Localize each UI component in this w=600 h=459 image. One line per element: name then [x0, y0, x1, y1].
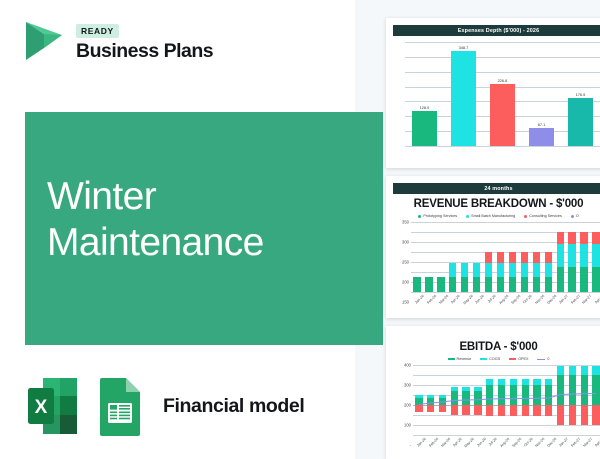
svg-text:X: X	[35, 397, 48, 418]
bar-slot: 348.7	[444, 42, 483, 146]
legend-dot-icon	[418, 215, 421, 218]
bar-segment[interactable]	[462, 391, 469, 406]
bar-segment	[521, 277, 528, 292]
bar-segment	[509, 252, 516, 263]
bar-segment[interactable]	[592, 405, 599, 425]
bar-segment[interactable]	[427, 395, 434, 398]
bar-slot	[483, 222, 495, 292]
bar-segment	[497, 277, 504, 292]
bar-segment[interactable]	[557, 405, 564, 425]
bar[interactable]: 226.8	[490, 84, 514, 146]
bar-segment[interactable]	[581, 375, 588, 405]
gridline	[405, 146, 600, 147]
ready-badge: READY	[76, 24, 119, 38]
brand-title: Business Plans	[76, 40, 213, 63]
plot-area-expenses: 128.9348.7226.867.1176.5	[405, 42, 600, 146]
bar-segment	[413, 277, 420, 292]
stacked-bar[interactable]	[533, 252, 540, 292]
bar-group	[411, 222, 600, 292]
bar-slot	[566, 222, 578, 292]
bar-segment	[592, 244, 599, 267]
x-label-slot: Aug-26	[495, 292, 507, 298]
bar-segment	[557, 244, 564, 267]
x-axis-tick-label: Jan-27	[558, 294, 569, 305]
x-axis-tick-label: Mar-27	[582, 294, 593, 305]
bar-slot	[555, 365, 567, 435]
chart-header-revenue: 24 months	[393, 183, 600, 194]
bar-segment	[461, 263, 468, 277]
footer-label: Financial model	[163, 395, 304, 418]
legend-label: O	[576, 214, 579, 218]
bar-segment[interactable]	[462, 405, 469, 415]
y-axis-tick-label: 400	[404, 363, 413, 368]
bar-segment[interactable]	[510, 385, 517, 405]
legend-label: COGS	[489, 357, 500, 361]
x-label-slot: Feb-26	[423, 292, 435, 298]
logo-svg	[22, 18, 66, 64]
bar-segment	[580, 267, 587, 292]
x-axis-tick-label: Mar-26	[438, 294, 449, 305]
bar-segment[interactable]	[569, 405, 576, 425]
y-axis-tick-label: 100	[404, 423, 413, 428]
bar-segment	[545, 263, 552, 277]
bar-segment[interactable]	[486, 405, 493, 416]
bar-segment[interactable]	[474, 391, 481, 406]
bar-segment	[449, 263, 456, 277]
x-axis-labels: Jan-26Feb-26Mar-26Apr-26May-26Jun-26Jul-…	[413, 435, 600, 441]
x-axis-tick-label: Dec-26	[546, 294, 557, 305]
x-axis-tick-label: Nov-26	[535, 437, 546, 448]
hero-panel: Winter Maintenance	[25, 112, 383, 345]
bar-segment	[580, 244, 587, 267]
google-sheets-icon	[91, 375, 147, 437]
bar-segment	[568, 244, 575, 267]
bar-slot	[530, 222, 542, 292]
bar-slot	[567, 365, 579, 435]
x-label-slot: Aug-26	[496, 435, 508, 441]
bar-segment	[509, 263, 516, 277]
bar-segment	[509, 277, 516, 292]
bar-slot	[425, 365, 437, 435]
bar-segment[interactable]	[545, 385, 552, 405]
stacked-bar[interactable]	[485, 252, 492, 292]
stacked-bar[interactable]	[413, 277, 420, 292]
bar[interactable]: 67.1	[529, 128, 553, 146]
bar-segment	[485, 263, 492, 277]
x-axis-tick-label: Dec-26	[546, 437, 557, 448]
bar-segment[interactable]	[533, 405, 540, 416]
page-title-line-2: Maintenance	[47, 220, 264, 266]
legend-dot-icon	[524, 215, 527, 218]
bar-slot	[448, 365, 460, 435]
bar-segment[interactable]	[415, 395, 422, 398]
chart-card-expenses[interactable]: Expenses Depth ($'000) - 2026 128.9348.7…	[386, 18, 600, 168]
y-axis-tick-label: 250	[402, 260, 411, 265]
legend-dot-icon	[571, 215, 574, 218]
bar-value-label: 226.8	[498, 78, 508, 84]
legend-item[interactable]: Revenue	[448, 357, 472, 361]
legend-swatch-icon	[509, 358, 516, 360]
x-axis-tick-label: Jan-26	[415, 294, 426, 305]
legend-item[interactable]: Prototyping Services	[418, 214, 457, 218]
y-axis-tick-label: 200	[404, 403, 413, 408]
x-axis-tick-label: Mar-26	[440, 437, 451, 448]
bar-segment[interactable]	[545, 405, 552, 416]
bar-segment[interactable]	[498, 405, 505, 416]
x-axis-tick-label: Aug-26	[498, 294, 509, 305]
bar[interactable]: 128.9	[412, 111, 436, 146]
bar-slot	[460, 365, 472, 435]
x-axis-tick-label: Nov-26	[534, 294, 545, 305]
bar-slot	[495, 222, 507, 292]
bar-segment[interactable]	[533, 385, 540, 405]
bar-segment	[473, 277, 480, 292]
bar-segment[interactable]	[569, 375, 576, 405]
bar-segment[interactable]	[545, 379, 552, 385]
stacked-bar[interactable]	[449, 263, 456, 292]
x-axis-tick-label: Jan-26	[417, 437, 428, 448]
bar-segment[interactable]	[510, 379, 517, 385]
bar-slot	[519, 365, 531, 435]
bar-slot	[508, 365, 520, 435]
bar-slot	[543, 365, 555, 435]
bar-value-label: 348.7	[459, 45, 469, 51]
chart-title-ebitda: EBITDA - $'000	[393, 341, 600, 353]
bar-segment[interactable]	[510, 405, 517, 416]
bar-slot	[542, 222, 554, 292]
bar-segment	[497, 252, 504, 263]
footer-row: X Financial model	[25, 375, 304, 437]
bar-segment[interactable]	[427, 405, 434, 412]
bar-slot: 226.8	[483, 42, 522, 146]
bar-segment	[425, 277, 432, 292]
bar-segment[interactable]	[439, 405, 446, 412]
legend-item[interactable]: COGS	[480, 357, 500, 361]
bar-slot	[590, 365, 600, 435]
page-title-line-1: Winter	[47, 174, 264, 220]
bar-segment	[521, 263, 528, 277]
bar-segment[interactable]	[474, 405, 481, 415]
x-axis-tick-label: Feb-27	[570, 294, 581, 305]
chart-title-expenses: Expenses Depth ($'000) - 2026	[393, 25, 600, 36]
y-axis-tick-label: 150	[402, 300, 411, 305]
y-axis-tick-label: -	[410, 443, 413, 448]
bar-segment[interactable]	[533, 379, 540, 385]
chart-legend-revenue: Prototyping ServicesSmall Batch Manufact…	[393, 214, 600, 218]
bar-segment[interactable]	[581, 405, 588, 425]
bar-segment[interactable]	[486, 385, 493, 405]
brand-text-block: READY Business Plans	[76, 19, 213, 63]
bar-segment	[557, 232, 564, 244]
stacked-bar[interactable]	[473, 263, 480, 292]
bar-slot	[413, 365, 425, 435]
bar-slot	[531, 365, 543, 435]
bar-segment[interactable]	[451, 405, 458, 415]
bar-segment	[497, 263, 504, 277]
plot-area-revenue: 35030025020015010050-Jan-26Feb-26Mar-26A…	[411, 222, 600, 292]
play-triangle-logo-icon	[22, 18, 66, 64]
stacked-bar[interactable]	[509, 252, 516, 292]
bar-segment[interactable]	[522, 379, 529, 385]
bar-group: 128.9348.7226.867.1176.5	[405, 42, 600, 146]
bar-value-label: 67.1	[538, 122, 546, 128]
chart-card-revenue-inner: 24 months REVENUE BREAKDOWN - $'000 Prot…	[393, 183, 600, 311]
x-axis-tick-label: Oct-26	[522, 294, 532, 304]
bar-segment[interactable]	[569, 366, 576, 376]
bar-slot	[437, 365, 449, 435]
y-axis-tick-label: 300	[404, 383, 413, 388]
bar-slot: 176.5	[561, 42, 600, 146]
x-axis-tick-label: Sep-26	[510, 294, 521, 305]
x-axis-tick-label: Apr-27	[594, 294, 600, 304]
bar-slot	[459, 222, 471, 292]
bar-value-label: 176.5	[576, 92, 586, 98]
x-axis-tick-label: Mar-27	[582, 437, 593, 448]
bar[interactable]: 348.7	[451, 51, 475, 146]
bar-slot: 67.1	[522, 42, 561, 146]
x-axis-tick-label: Jan-27	[558, 437, 569, 448]
x-axis-tick-label: Apr-26	[452, 437, 462, 447]
bar-slot	[554, 222, 566, 292]
y-axis-tick-label: 350	[402, 220, 411, 225]
bar-segment	[449, 277, 456, 292]
bar-segment	[533, 263, 540, 277]
bar-segment[interactable]	[439, 395, 446, 398]
bar-segment	[533, 277, 540, 292]
bar-segment[interactable]	[581, 366, 588, 376]
chart-card-ebitda-inner: EBITDA - $'000 RevenueCOGSOPEX0 40030020…	[393, 333, 600, 452]
bar-segment	[580, 232, 587, 244]
bar-segment	[568, 267, 575, 292]
x-label-slot: Jan-26	[411, 292, 423, 298]
stacked-bar[interactable]	[521, 252, 528, 292]
bar-segment	[437, 277, 444, 292]
x-axis-tick-label: Apr-26	[451, 294, 461, 304]
bar-slot	[447, 222, 459, 292]
bar-segment	[545, 252, 552, 263]
x-axis-tick-label: Apr-27	[594, 437, 600, 447]
bar-segment[interactable]	[451, 387, 458, 391]
bar-segment	[557, 267, 564, 292]
x-axis-tick-label: Feb-26	[427, 294, 438, 305]
legend-label: Small Batch Manufacturing	[471, 214, 515, 218]
bar-segment[interactable]	[451, 391, 458, 406]
bar-slot	[484, 365, 496, 435]
brand-header: READY Business Plans	[22, 18, 213, 64]
bar-segment[interactable]	[498, 379, 505, 385]
microsoft-excel-icon: X	[25, 375, 81, 437]
stacked-bar[interactable]	[497, 252, 504, 292]
bar-segment[interactable]	[557, 366, 564, 376]
bar-segment[interactable]	[557, 375, 564, 405]
bar-slot	[411, 222, 423, 292]
stacked-bar[interactable]	[425, 277, 432, 292]
legend-item[interactable]: 0	[537, 357, 549, 361]
bar-segment[interactable]	[498, 385, 505, 405]
stacked-bar[interactable]	[461, 263, 468, 292]
bar-slot	[496, 365, 508, 435]
stacked-bar[interactable]	[545, 252, 552, 292]
bar-segment[interactable]	[415, 398, 422, 406]
bar-segment[interactable]	[522, 405, 529, 416]
stacked-bar[interactable]	[437, 277, 444, 292]
legend-label: Revenue	[457, 357, 472, 361]
chart-title-revenue: REVENUE BREAKDOWN - $'000	[393, 198, 600, 210]
bar[interactable]: 176.5	[568, 98, 592, 146]
bar-slot	[435, 222, 447, 292]
y-axis-tick-label: 300	[402, 240, 411, 245]
bar-segment[interactable]	[592, 375, 599, 405]
y-axis-tick-label: 200	[402, 280, 411, 285]
x-axis-tick-label: May-26	[462, 294, 473, 305]
x-axis-labels: Jan-26Feb-26Mar-26Apr-26May-26Jun-26Jul-…	[411, 292, 600, 298]
bar-slot	[472, 365, 484, 435]
chart-card-expenses-inner: Expenses Depth ($'000) - 2026 128.9348.7…	[393, 25, 600, 161]
legend-item[interactable]: OPEX	[509, 357, 528, 361]
bar-slot	[590, 222, 600, 292]
legend-item[interactable]: O	[571, 214, 579, 218]
bar-segment	[473, 263, 480, 277]
legend-line-icon	[537, 359, 545, 360]
chart-legend-ebitda: RevenueCOGSOPEX0	[393, 357, 600, 361]
x-axis-tick-label: Aug-26	[499, 437, 510, 448]
bar-slot: 128.9	[405, 42, 444, 146]
x-axis-tick-label: Oct-26	[523, 437, 533, 447]
bar-segment	[521, 252, 528, 263]
bar-segment[interactable]	[474, 387, 481, 391]
legend-label: 0	[547, 357, 549, 361]
legend-dot-icon	[466, 215, 469, 218]
legend-swatch-icon	[480, 358, 487, 360]
x-axis-tick-label: May-26	[464, 437, 475, 448]
bar-segment	[485, 252, 492, 263]
bar-slot	[507, 222, 519, 292]
x-axis-tick-label: Jul-26	[487, 294, 497, 304]
x-axis-tick-label: Jun-26	[474, 294, 485, 305]
legend-item[interactable]: Small Batch Manufacturing	[466, 214, 515, 218]
x-axis-tick-label: Jul-26	[488, 437, 498, 447]
legend-label: OPEX	[518, 357, 528, 361]
bar-segment	[568, 232, 575, 244]
x-label-slot: Jan-26	[413, 435, 425, 441]
x-axis-tick-label: Sep-26	[511, 437, 522, 448]
bar-value-label: 128.9	[420, 105, 430, 111]
bar-segment	[592, 232, 599, 244]
chart-card-ebitda[interactable]: EBITDA - $'000 RevenueCOGSOPEX0 40030020…	[386, 326, 600, 459]
legend-label: Consulting Services	[529, 214, 562, 218]
plot-area-ebitda: 400300200100-(100)(200)(300)Jan-26Feb-26…	[413, 365, 600, 435]
bar-slot	[518, 222, 530, 292]
x-label-slot: May-26	[459, 292, 471, 298]
bar-slot	[423, 222, 435, 292]
bar-segment[interactable]	[439, 398, 446, 406]
bar-segment[interactable]	[427, 398, 434, 406]
page-title: Winter Maintenance	[47, 174, 264, 266]
x-axis-tick-label: Feb-26	[428, 437, 439, 448]
bar-segment	[533, 252, 540, 263]
bar-group	[413, 365, 600, 435]
bar-segment[interactable]	[415, 405, 422, 412]
bar-segment	[461, 277, 468, 292]
bar-segment	[592, 267, 599, 292]
bar-segment[interactable]	[522, 385, 529, 405]
bar-segment[interactable]	[592, 366, 599, 376]
stacked-bar[interactable]	[557, 232, 564, 292]
bar-slot	[471, 222, 483, 292]
legend-item[interactable]: Consulting Services	[524, 214, 562, 218]
stacked-bar[interactable]	[568, 232, 575, 292]
bar-segment	[485, 277, 492, 292]
chart-card-revenue[interactable]: 24 months REVENUE BREAKDOWN - $'000 Prot…	[386, 176, 600, 318]
stacked-bar[interactable]	[592, 232, 599, 292]
bar-segment[interactable]	[486, 379, 493, 385]
bar-segment[interactable]	[462, 387, 469, 391]
stacked-bar[interactable]	[580, 232, 587, 292]
x-axis-tick-label: Jun-26	[476, 437, 487, 448]
bar-slot	[578, 365, 590, 435]
bar-slot	[578, 222, 590, 292]
bar-segment	[545, 277, 552, 292]
legend-label: Prototyping Services	[423, 214, 457, 218]
x-axis-tick-label: Feb-27	[570, 437, 581, 448]
legend-swatch-icon	[448, 358, 455, 360]
